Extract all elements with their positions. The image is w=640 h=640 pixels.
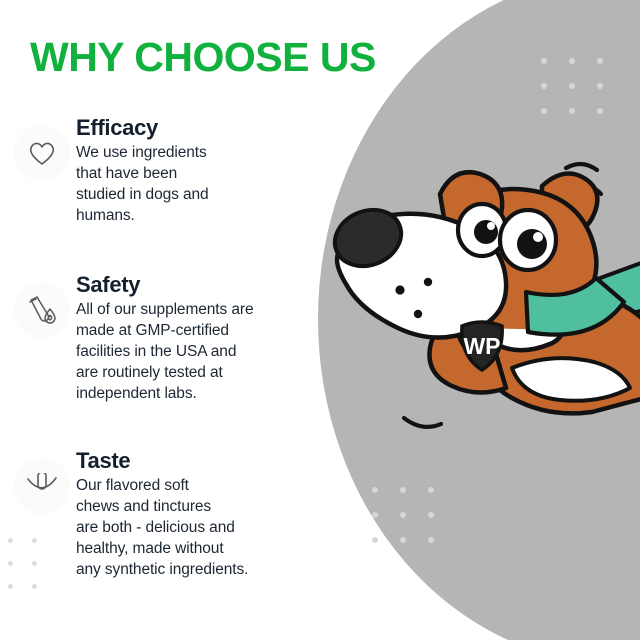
feature-description: All of our supplements are made at GMP-c…	[76, 299, 334, 404]
feature-item-efficacy: Efficacy We use ingredients that have be…	[14, 115, 334, 226]
heart-icon	[14, 125, 70, 181]
muzzle-freckle	[424, 278, 432, 286]
dot-grid-top-right	[541, 58, 625, 133]
dot	[400, 487, 406, 493]
badge-label: WP	[463, 333, 500, 359]
dog-pupil-right	[517, 229, 547, 259]
content-column: WHY CHOOSE US Efficacy We use ingredient…	[0, 0, 330, 640]
dot	[400, 537, 406, 543]
dog-eye-highlight	[533, 232, 543, 242]
page-title: WHY CHOOSE US	[30, 34, 376, 81]
dot	[569, 83, 575, 89]
dot	[569, 108, 575, 114]
motion-line-paw-1	[404, 418, 441, 427]
feature-title: Safety	[76, 272, 334, 298]
motion-line-ear-1	[566, 164, 597, 170]
feature-body: Safety All of our supplements are made a…	[76, 272, 334, 404]
dot	[597, 83, 603, 89]
feature-description: Our flavored soft chews and tinctures ar…	[76, 475, 334, 580]
dot	[569, 58, 575, 64]
muzzle-freckle	[414, 310, 422, 318]
dot	[541, 108, 547, 114]
dot	[400, 512, 406, 518]
feature-item-taste: Taste Our flavored soft chews and tinctu…	[14, 448, 334, 580]
dog-eye-highlight	[487, 222, 495, 230]
feature-description: We use ingredients that have been studie…	[76, 142, 334, 226]
muzzle-freckle	[395, 285, 404, 294]
tongue-icon	[14, 458, 70, 514]
feature-title: Efficacy	[76, 115, 334, 141]
dot	[597, 58, 603, 64]
poster-canvas: WP WHY CHOOSE US Efficacy We use ingredi…	[0, 0, 640, 640]
feature-body: Efficacy We use ingredients that have be…	[76, 115, 334, 226]
dot-grid-mid-right	[372, 487, 456, 562]
dot	[541, 83, 547, 89]
dot	[372, 512, 378, 518]
dot	[597, 108, 603, 114]
running-dog-mascot: WP	[330, 130, 640, 430]
dot	[428, 537, 434, 543]
dot	[372, 537, 378, 543]
dot	[428, 487, 434, 493]
dot	[428, 512, 434, 518]
dot	[541, 58, 547, 64]
feature-item-safety: Safety All of our supplements are made a…	[14, 272, 334, 404]
feature-body: Taste Our flavored soft chews and tinctu…	[76, 448, 334, 580]
feature-title: Taste	[76, 448, 334, 474]
test-tube-icon	[14, 282, 70, 338]
dot	[372, 487, 378, 493]
dog-pupil-left	[474, 220, 498, 244]
